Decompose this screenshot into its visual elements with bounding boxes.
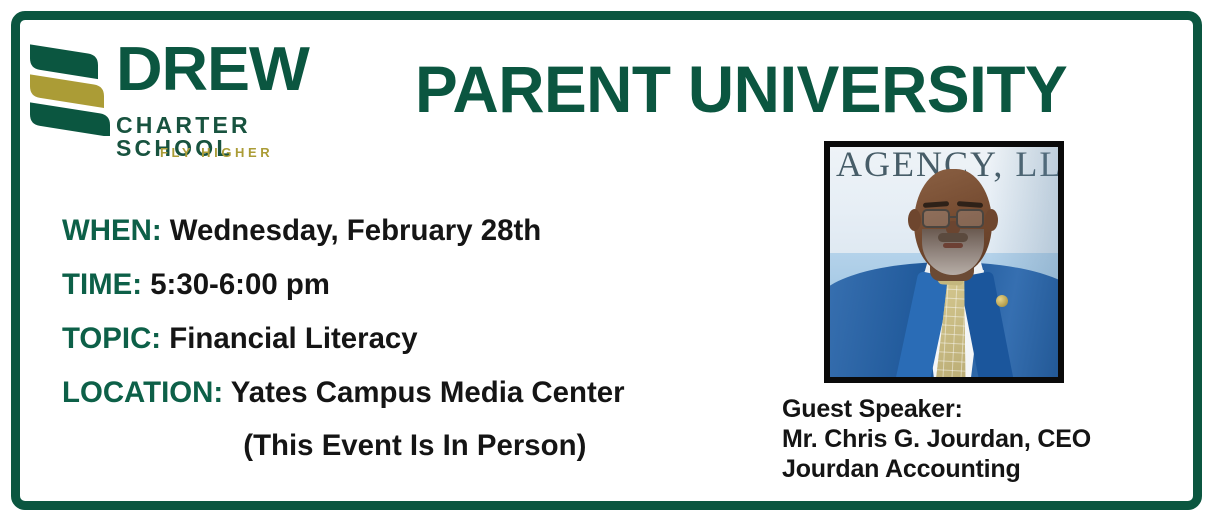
event-detail-value: Wednesday, February 28th: [170, 214, 541, 247]
event-detail-row-location: LOCATION: Yates Campus Media Center: [62, 366, 748, 420]
wing-chevron-mark-icon: [28, 38, 114, 136]
logo-tagline: FLY HIGHER: [160, 146, 273, 159]
page-title: PARENT UNIVERSITY: [415, 54, 1084, 124]
event-location-note: (This Event Is In Person): [62, 420, 748, 472]
speaker-mouth: [943, 243, 963, 248]
speaker-eyeglass-lens-right: [956, 209, 984, 228]
event-detail-value: Yates Campus Media Center: [231, 376, 625, 409]
speaker-eyeglass-bridge: [949, 216, 957, 218]
event-detail-value: Financial Literacy: [169, 322, 417, 355]
event-detail-value: 5:30-6:00 pm: [150, 268, 330, 301]
speaker-caption-name: Mr. Chris G. Jourdan, CEO: [782, 424, 1182, 454]
speaker-mustache: [938, 233, 968, 242]
event-detail-row-when: WHEN: Wednesday, February 28th: [62, 204, 748, 258]
event-detail-label: TIME:: [62, 268, 150, 301]
speaker-ear-right: [985, 209, 998, 231]
event-detail-label: WHEN:: [62, 214, 170, 247]
event-detail-label: TOPIC:: [62, 322, 169, 355]
event-detail-label: LOCATION:: [62, 376, 231, 409]
event-detail-row-topic: TOPIC: Financial Literacy: [62, 312, 748, 366]
speaker-caption-block: Guest Speaker: Mr. Chris G. Jourdan, CEO…: [782, 394, 1182, 484]
speaker-photo-frame: AGENCY, LL: [824, 141, 1064, 383]
speaker-eyeglass-lens-left: [922, 209, 950, 228]
drew-charter-school-logo: DREW CHARTER SCHOOL FLY HIGHER: [28, 36, 328, 176]
speaker-lapel-pin: [996, 295, 1008, 307]
event-detail-row-time: TIME: 5:30-6:00 pm: [62, 258, 748, 312]
speaker-portrait-photo: AGENCY, LL: [830, 147, 1058, 377]
event-details-block: WHEN: Wednesday, February 28th TIME: 5:3…: [62, 204, 762, 472]
flyer-canvas: DREW CHARTER SCHOOL FLY HIGHER PARENT UN…: [0, 0, 1213, 521]
speaker-ear-left: [908, 209, 921, 231]
speaker-caption-title: Guest Speaker:: [782, 394, 1182, 424]
speaker-caption-company: Jourdan Accounting: [782, 454, 1182, 484]
logo-wordmark: DREW: [116, 39, 309, 101]
